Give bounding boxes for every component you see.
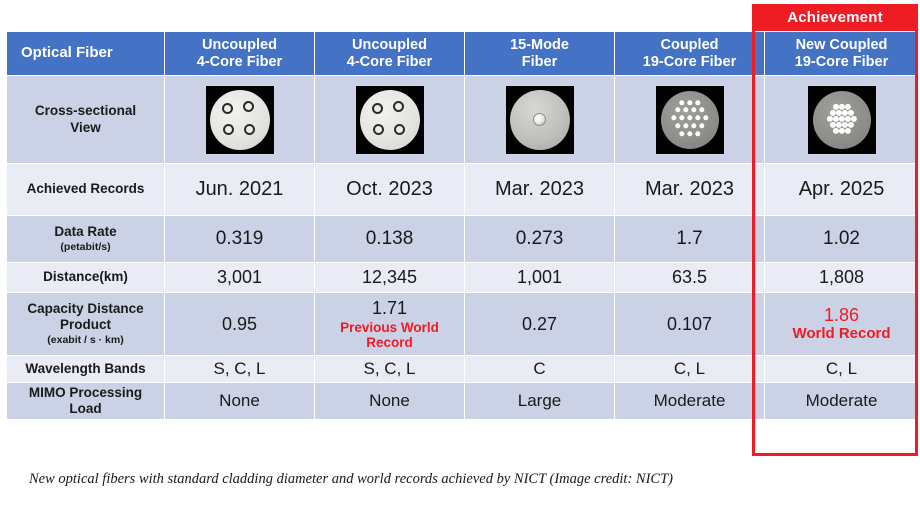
achievement-banner: Achievement xyxy=(752,4,918,31)
table-row-mimo-processing-load: MIMO Processing Load None None Large Mod… xyxy=(7,383,919,420)
uncoupled-4-core-cross-section-icon xyxy=(206,86,274,154)
cell-cdp-1: 1.71 Previous World Record xyxy=(315,293,465,356)
cell-value: 0.95 xyxy=(222,314,257,334)
row-label-achieved-records: Achieved Records xyxy=(7,164,165,216)
cladding xyxy=(661,91,719,149)
header-col-uncoupled-4-core-b: Uncoupled 4-Core Fiber xyxy=(315,32,465,76)
optical-fiber-comparison-table: Optical Fiber Uncoupled 4-Core Fiber Unc… xyxy=(6,31,919,420)
row-label-line1: Capacity Distance xyxy=(27,301,143,316)
header-col-uncoupled-4-core-a: Uncoupled 4-Core Fiber xyxy=(165,32,315,76)
header-line2: 19-Core Fiber xyxy=(643,54,736,70)
row-label-line1: Cross-sectional xyxy=(35,103,136,118)
core xyxy=(222,103,233,114)
header-col-new-coupled-19-core: New Coupled 19-Core Fiber xyxy=(765,32,919,76)
header-line1: New Coupled xyxy=(796,37,888,53)
row-label-line1: MIMO Processing xyxy=(29,385,142,400)
header-optical-fiber: Optical Fiber xyxy=(7,32,165,76)
row-label-line2: Load xyxy=(69,401,101,416)
cell-wavelength-bands-2: C xyxy=(465,356,615,383)
previous-world-record-note: Previous World Record xyxy=(315,320,464,350)
cell-value: 1.86 xyxy=(824,305,859,325)
header-line1: 15-Mode xyxy=(510,37,569,53)
cell-achieved-records-4: Apr. 2025 xyxy=(765,164,919,216)
cell-cdp-4: 1.86 World Record xyxy=(765,293,919,356)
cell-mimo-3: Moderate xyxy=(615,383,765,420)
row-label-line2: View xyxy=(70,120,101,135)
cell-achieved-records-1: Oct. 2023 xyxy=(315,164,465,216)
cell-distance-1: 12,345 xyxy=(315,263,465,293)
table-row-achieved-records: Achieved Records Jun. 2021 Oct. 2023 Mar… xyxy=(7,164,919,216)
header-line2: 4-Core Fiber xyxy=(347,54,432,70)
cell-achieved-records-3: Mar. 2023 xyxy=(615,164,765,216)
cell-data-rate-1: 0.138 xyxy=(315,216,465,263)
coupled-19-core-cross-section-icon xyxy=(656,86,724,154)
cell-achieved-records-0: Jun. 2021 xyxy=(165,164,315,216)
cladding xyxy=(510,90,570,150)
row-label-cross-section: Cross-sectional View xyxy=(7,76,165,164)
cell-value: 0.107 xyxy=(667,314,712,334)
cell-distance-4: 1,808 xyxy=(765,263,919,293)
new-coupled-19-core-cross-section-icon xyxy=(808,86,876,154)
15-mode-cross-section-icon xyxy=(506,86,574,154)
cell-cross-section-uncoupled-4-core-b xyxy=(315,76,465,164)
uncoupled-4-core-cross-section-icon xyxy=(356,86,424,154)
header-line2: 19-Core Fiber xyxy=(795,54,888,70)
core xyxy=(394,124,405,135)
table-row-data-rate: Data Rate (petabit/s) 0.319 0.138 0.273 … xyxy=(7,216,919,263)
cell-mimo-4: Moderate xyxy=(765,383,919,420)
table-row-cross-section: Cross-sectional View xyxy=(7,76,919,164)
cell-cross-section-coupled-19-core xyxy=(615,76,765,164)
cell-data-rate-2: 0.273 xyxy=(465,216,615,263)
cell-cdp-3: 0.107 xyxy=(615,293,765,356)
cell-distance-0: 3,001 xyxy=(165,263,315,293)
figure-caption: New optical fibers with standard claddin… xyxy=(29,471,673,488)
cell-cross-section-15-mode xyxy=(465,76,615,164)
cell-wavelength-bands-1: S, C, L xyxy=(315,356,465,383)
cell-cross-section-new-coupled-19-core xyxy=(765,76,919,164)
cell-cross-section-uncoupled-4-core-a xyxy=(165,76,315,164)
table-row-wavelength-bands: Wavelength Bands S, C, L S, C, L C C, L … xyxy=(7,356,919,383)
header-col-coupled-19-core: Coupled 19-Core Fiber xyxy=(615,32,765,76)
row-label-mimo-processing-load: MIMO Processing Load xyxy=(7,383,165,420)
table-row-capacity-distance-product: Capacity Distance Product (exabit / s · … xyxy=(7,293,919,356)
header-line1: Uncoupled xyxy=(202,37,277,53)
world-record-note: World Record xyxy=(765,326,918,343)
cell-mimo-1: None xyxy=(315,383,465,420)
core xyxy=(373,124,384,135)
cell-wavelength-bands-0: S, C, L xyxy=(165,356,315,383)
cell-wavelength-bands-4: C, L xyxy=(765,356,919,383)
header-line1: Uncoupled xyxy=(352,37,427,53)
cell-value: 0.27 xyxy=(522,314,557,334)
row-label-data-rate: Data Rate (petabit/s) xyxy=(7,216,165,263)
header-line2: Fiber xyxy=(522,54,557,70)
row-label-wavelength-bands: Wavelength Bands xyxy=(7,356,165,383)
cell-value: 1.71 xyxy=(372,298,407,318)
cell-data-rate-4: 1.02 xyxy=(765,216,919,263)
row-label-text: Data Rate xyxy=(54,224,116,239)
cladding xyxy=(360,90,420,150)
cell-data-rate-3: 1.7 xyxy=(615,216,765,263)
core xyxy=(244,124,255,135)
row-label-distance: Distance(km) xyxy=(7,263,165,293)
row-label-unit: (exabit / s · km) xyxy=(7,334,164,347)
core xyxy=(393,101,404,112)
core xyxy=(243,101,254,112)
cell-distance-3: 63.5 xyxy=(615,263,765,293)
table-header-row: Optical Fiber Uncoupled 4-Core Fiber Unc… xyxy=(7,32,919,76)
header-col-15-mode-fiber: 15-Mode Fiber xyxy=(465,32,615,76)
core xyxy=(533,113,546,126)
core xyxy=(372,103,383,114)
row-label-line2: Product xyxy=(60,317,111,332)
cell-cdp-0: 0.95 xyxy=(165,293,315,356)
cell-wavelength-bands-3: C, L xyxy=(615,356,765,383)
core xyxy=(223,124,234,135)
row-label-capacity-distance-product: Capacity Distance Product (exabit / s · … xyxy=(7,293,165,356)
cladding xyxy=(813,91,871,149)
cell-distance-2: 1,001 xyxy=(465,263,615,293)
cell-mimo-2: Large xyxy=(465,383,615,420)
figure-container: Achievement Optical Fiber Uncoupled 4-Co… xyxy=(0,0,920,518)
cladding xyxy=(210,90,270,150)
table-row-distance: Distance(km) 3,001 12,345 1,001 63.5 1,8… xyxy=(7,263,919,293)
cell-data-rate-0: 0.319 xyxy=(165,216,315,263)
cell-cdp-2: 0.27 xyxy=(465,293,615,356)
row-label-unit: (petabit/s) xyxy=(7,241,164,254)
header-line1: Coupled xyxy=(661,37,719,53)
cell-mimo-0: None xyxy=(165,383,315,420)
header-line2: 4-Core Fiber xyxy=(197,54,282,70)
cell-achieved-records-2: Mar. 2023 xyxy=(465,164,615,216)
